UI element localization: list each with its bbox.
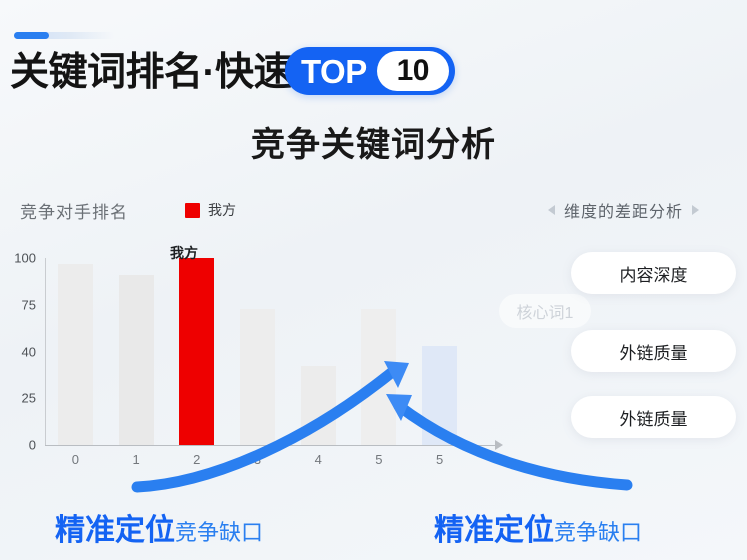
chart-x-axis [45, 445, 497, 446]
caption-right: 精准定位 竞争缺口 [434, 505, 642, 549]
chart-bars [45, 258, 470, 445]
x-tick-label: 2 [193, 452, 200, 467]
caption-right-strong: 精准定位 [434, 505, 554, 549]
chart-bar [361, 309, 396, 446]
x-axis-arrow-icon [495, 440, 503, 450]
side-panel-heading: 维度的差距分析 [548, 198, 699, 222]
page-title: 关键词排名·快速 [10, 44, 292, 100]
dimension-card-1[interactable]: 内容深度 [571, 252, 736, 294]
chart-bar [58, 264, 93, 445]
badge-top-label: TOP [301, 55, 367, 88]
chart-bar [119, 275, 154, 445]
x-tick-label: 5 [375, 452, 382, 467]
ghost-keyword-chip: 核心词1 [499, 294, 591, 328]
dimension-card-2[interactable]: 外链质量 [571, 330, 736, 372]
caption-right-light: 竞争缺口 [554, 515, 642, 547]
chart-bar [240, 309, 275, 446]
chart-bar-highlight [179, 258, 214, 445]
y-tick-label: 100 [14, 251, 36, 266]
progress-bar-fill [14, 32, 49, 39]
x-tick-label: 5 [436, 452, 443, 467]
page-subtitle: 竞争关键词分析 [0, 117, 747, 166]
dimension-card-3[interactable]: 外链质量 [571, 396, 736, 438]
progress-bar [14, 32, 114, 39]
triangle-right-icon [692, 205, 699, 215]
y-tick-label: 25 [22, 391, 36, 406]
y-tick-label: 75 [22, 297, 36, 312]
side-panel-heading-label: 维度的差距分析 [564, 198, 683, 222]
badge-number: 10 [377, 51, 449, 91]
legend-label: 我方 [208, 200, 236, 220]
chart-legend: 我方 [185, 200, 236, 220]
x-tick-label: 0 [72, 452, 79, 467]
caption-left: 精准定位 竞争缺口 [55, 505, 263, 549]
chart-title: 竞争对手排名 [20, 198, 128, 223]
slide-canvas: 关键词排名·快速 TOP 10 竞争关键词分析 竞争对手排名 我方 维度的差距分… [0, 0, 747, 560]
x-tick-label: 4 [315, 452, 322, 467]
legend-swatch-icon [185, 203, 200, 218]
highlight-bar-label: 我方 [170, 243, 198, 263]
x-tick-label: 3 [254, 452, 261, 467]
y-tick-label: 40 [22, 344, 36, 359]
y-tick-label: 0 [29, 438, 36, 453]
caption-left-strong: 精准定位 [55, 505, 175, 549]
caption-left-light: 竞争缺口 [175, 515, 263, 547]
triangle-left-icon [548, 205, 555, 215]
chart-bar [422, 346, 457, 445]
top-rank-badge: TOP 10 [285, 47, 455, 95]
chart-bar [301, 366, 336, 445]
page-title-text: 关键词排名·快速 [10, 53, 292, 92]
x-tick-label: 1 [132, 452, 139, 467]
